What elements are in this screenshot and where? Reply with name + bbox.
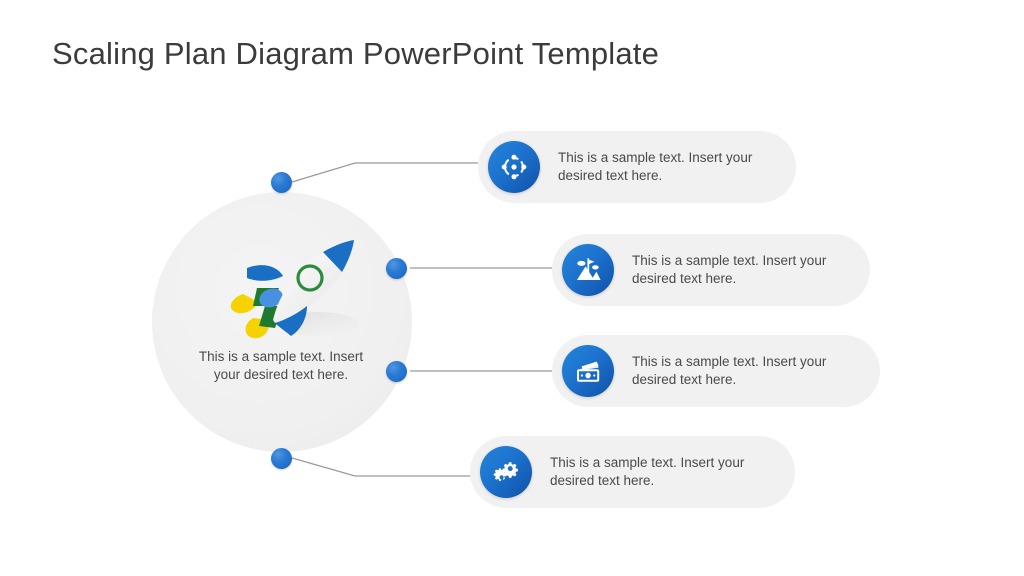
page-title: Scaling Plan Diagram PowerPoint Template <box>52 36 659 72</box>
card-3-text: This is a sample text. Insert your desir… <box>632 353 880 389</box>
connector-dot-2[interactable] <box>386 258 407 279</box>
mountain-flag-icon <box>562 244 614 296</box>
rocket-illustration <box>213 232 368 347</box>
money-banknotes-icon <box>562 345 614 397</box>
connector-dot-4[interactable] <box>271 448 292 469</box>
hub-description: This is a sample text. Insert your desir… <box>186 348 376 383</box>
connector-dot-3[interactable] <box>386 361 407 382</box>
content-card-1[interactable]: This is a sample text. Insert your desir… <box>478 131 796 203</box>
content-card-2[interactable]: This is a sample text. Insert your desir… <box>552 234 870 306</box>
gears-icon <box>480 446 532 498</box>
connector-dot-1[interactable] <box>271 172 292 193</box>
content-card-4[interactable]: This is a sample text. Insert your desir… <box>470 436 795 508</box>
target-nodes-icon <box>488 141 540 193</box>
content-card-3[interactable]: This is a sample text. Insert your desir… <box>552 335 880 407</box>
card-2-text: This is a sample text. Insert your desir… <box>632 252 870 288</box>
card-1-text: This is a sample text. Insert your desir… <box>558 149 796 185</box>
card-4-text: This is a sample text. Insert your desir… <box>550 454 795 490</box>
